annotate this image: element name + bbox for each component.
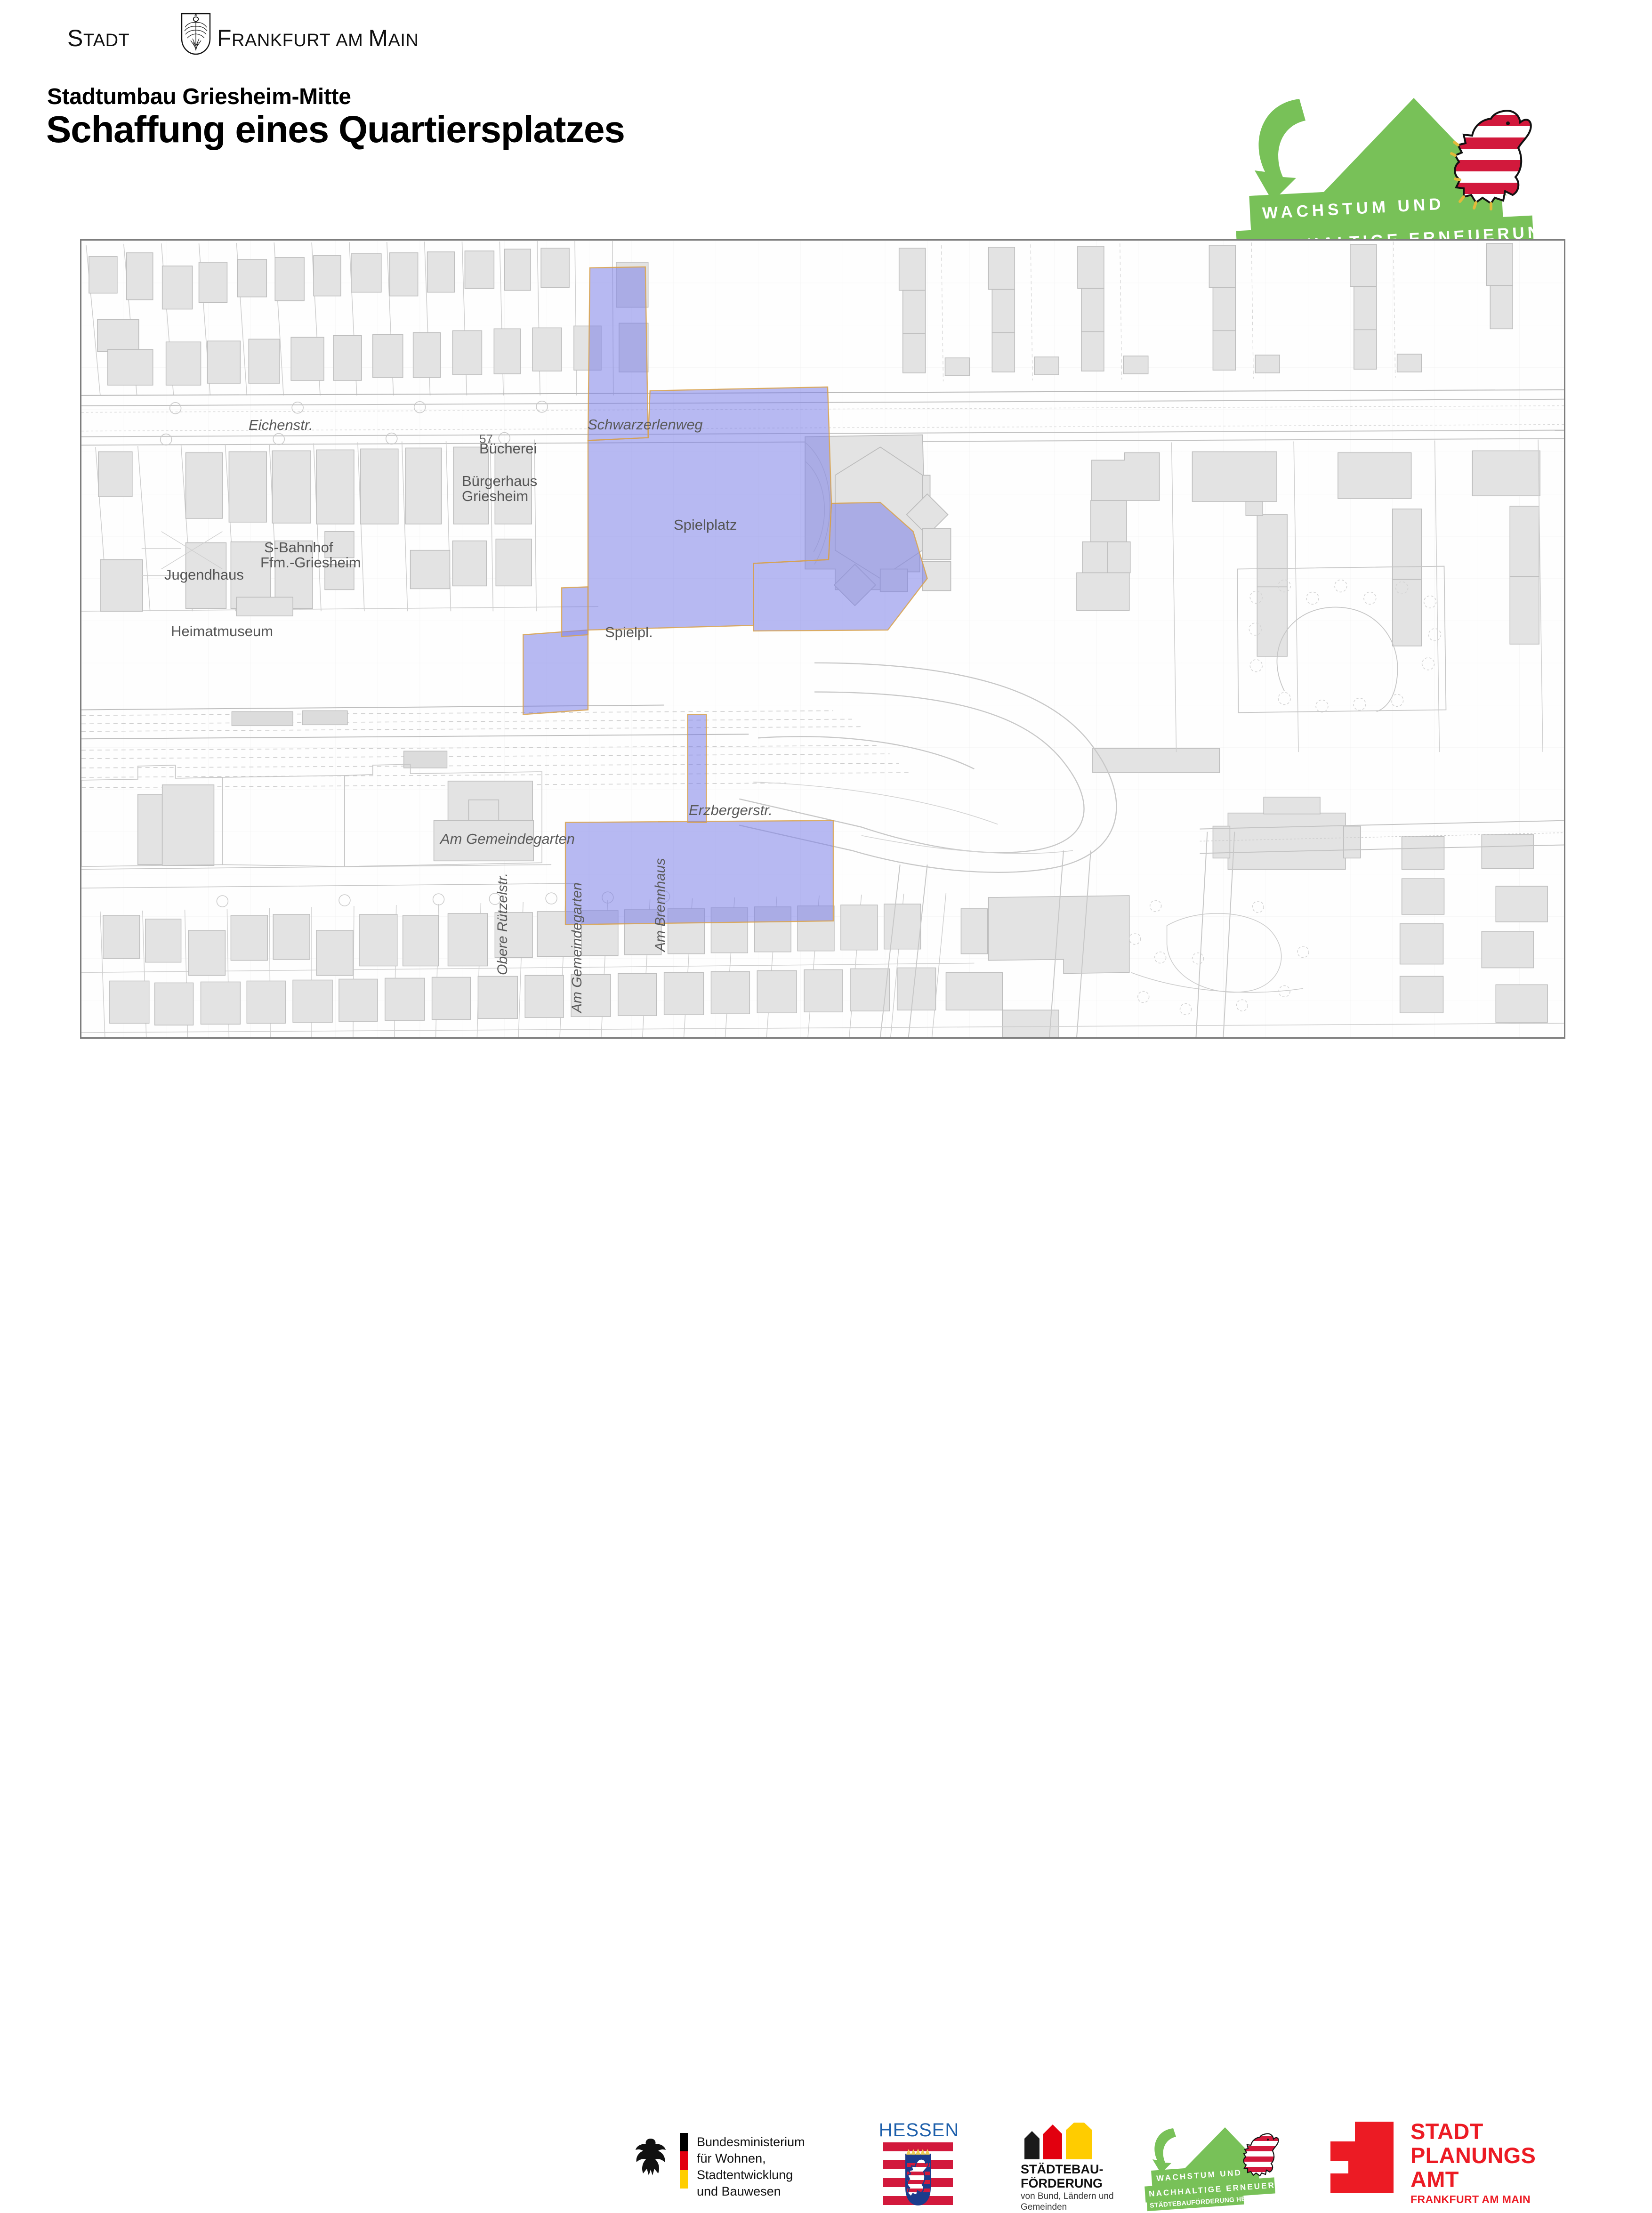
stadtplanungsamt-mark-icon [1330, 2122, 1394, 2193]
stadtplanungsamt-logo: STADT PLANUNGS AMT FRANKFURT AM MAIN [1330, 2122, 1556, 2203]
page-footer: Bundesministerium für Wohnen, Stadtentwi… [0, 1055, 1652, 1168]
hessen-lion-icon-footer [1241, 2130, 1281, 2179]
city-logo-stadt: STADT [67, 24, 129, 52]
page-title: Schaffung eines Quartiersplatzes [46, 110, 625, 149]
stadtplanungsamt-text: STADT PLANUNGS AMT [1410, 2120, 1536, 2191]
bmwsb-line1: Bundesministerium [697, 2134, 857, 2150]
page-header: STADT FRANKFURT AM MAIN Stadtumbau Gries… [0, 0, 1652, 235]
spa-subtitle: FRANKFURT AM MAIN [1410, 2193, 1531, 2206]
map-canvas [81, 241, 1564, 1037]
staedtebaufoerderung-logo: STÄDTEBAU- FÖRDERUNG von Bund, Ländern u… [1016, 2123, 1129, 2207]
bmwsb-text: Bundesministerium für Wohnen, Stadtentwi… [697, 2134, 857, 2200]
spa-line2: PLANUNGS [1410, 2144, 1536, 2168]
subtitle: Stadtumbau Griesheim-Mitte [47, 84, 351, 110]
staedtebaufoerderung-sub: von Bund, Ländern und Gemeinden [1021, 2191, 1114, 2213]
bundesadler-icon [631, 2136, 670, 2179]
three-houses-icon [1022, 2123, 1097, 2159]
hessen-logo: HESSEN [877, 2120, 961, 2209]
german-flag-bar [680, 2133, 688, 2189]
frankfurt-eagle-crest-icon [180, 12, 211, 56]
hessen-wordmark: HESSEN [877, 2120, 961, 2141]
spa-line3: AMT [1410, 2168, 1536, 2192]
stbf-sub1: von Bund, Ländern und [1021, 2191, 1114, 2202]
stbf-sub2: Gemeinden [1021, 2202, 1114, 2213]
hessen-flag-icon [883, 2142, 953, 2208]
bmwsb-logo: Bundesministerium für Wohnen, Stadtentwi… [631, 2127, 857, 2198]
program-logo-footer: WACHSTUM UND NACHHALTIGE ERNEUERUNG STÄD… [1144, 2124, 1285, 2206]
city-logo: STADT FRANKFURT AM MAIN [67, 23, 369, 56]
cadastral-map[interactable]: Eichenstr. Schwarzerlenweg Am Gemeindega… [80, 239, 1565, 1039]
spa-line1: STADT [1410, 2120, 1536, 2144]
stbf-line1: STÄDTEBAU- [1021, 2162, 1104, 2176]
bmwsb-line3: und Bauwesen [697, 2183, 857, 2200]
staedtebaufoerderung-text: STÄDTEBAU- FÖRDERUNG [1021, 2162, 1104, 2190]
stbf-line2: FÖRDERUNG [1021, 2176, 1104, 2190]
hessen-lion-icon [1448, 103, 1537, 211]
bmwsb-line2: für Wohnen, Stadtentwicklung [697, 2150, 857, 2183]
city-logo-frankfurt-am-main: FRANKFURT AM MAIN [217, 24, 419, 52]
